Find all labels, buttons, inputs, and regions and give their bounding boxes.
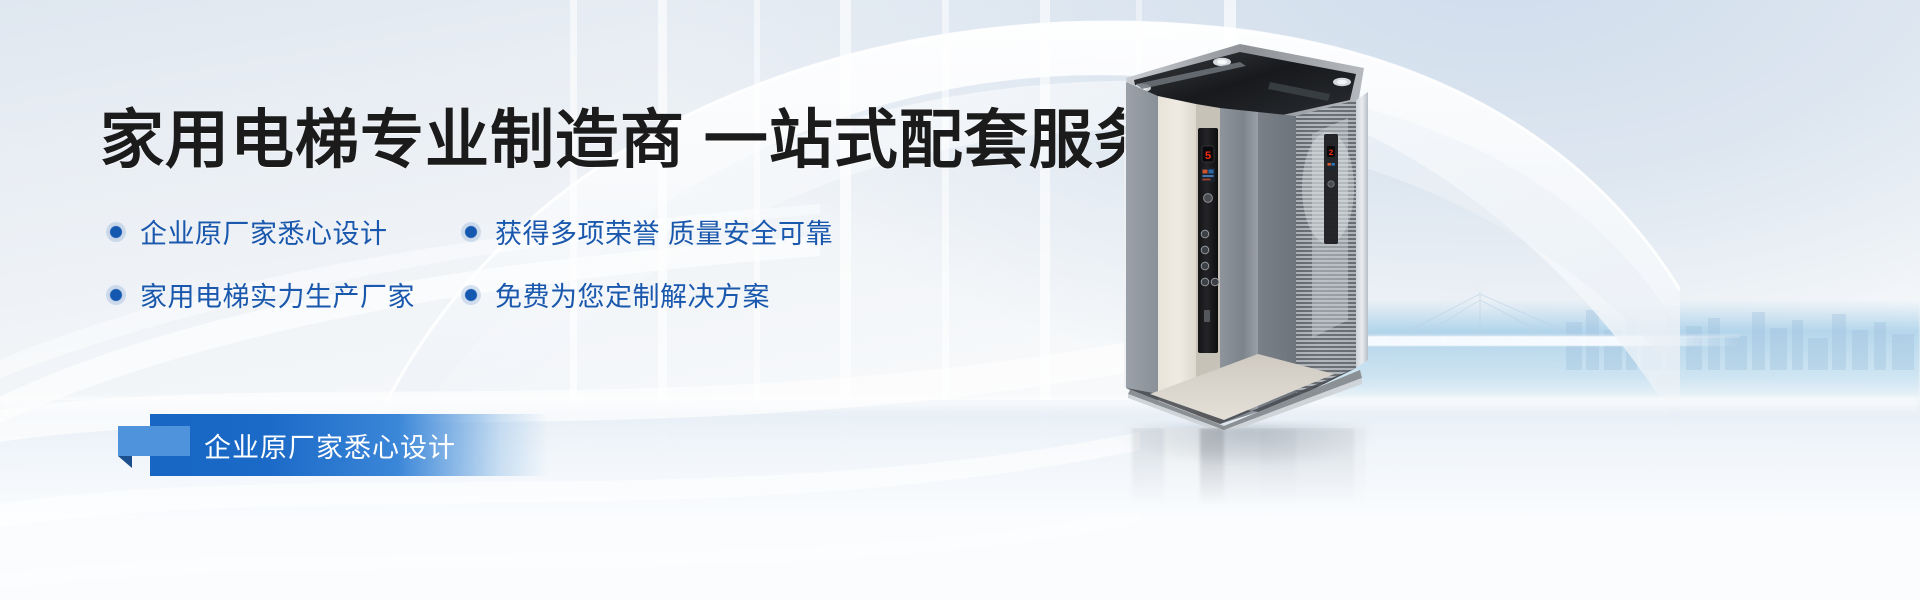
bullet-dot-icon [461, 222, 481, 242]
bullet-dot-icon [461, 285, 481, 305]
highlight-ribbon: 企业原厂家悉心设计 [118, 414, 548, 476]
panel-button [1204, 194, 1213, 203]
list-item: 企业原厂家悉心设计 [106, 212, 461, 251]
home-elevator-cabin: 5 [1120, 38, 1370, 430]
city-skyline [1560, 300, 1920, 370]
floor-sheen [0, 398, 1920, 414]
cabin-mirror-panel: 2 [1296, 100, 1356, 398]
feature-label: 家用电梯实力生产厂家 [140, 275, 415, 314]
page-title: 家用电梯专业制造商 一站式配套服务 [100, 108, 1159, 172]
list-item: 免费为您定制解决方案 [461, 275, 770, 314]
hero-banner: 家用电梯专业制造商 一站式配套服务 企业原厂家悉心设计 获得多项荣誉 质量安全可… [0, 0, 1920, 600]
ribbon-fold-icon [118, 456, 132, 468]
cabin-panel-beige [1158, 96, 1196, 418]
cabin-frame-right [1356, 92, 1368, 368]
ribbon-tab [118, 426, 190, 456]
mirrored-floor-value: 2 [1329, 149, 1334, 158]
panel-keyslot [1204, 310, 1210, 322]
feature-row: 家用电梯实力生产厂家 免费为您定制解决方案 [106, 275, 966, 314]
bullet-dot-icon [106, 222, 126, 242]
elevator-reflection [1128, 428, 1366, 506]
feature-label: 企业原厂家悉心设计 [140, 212, 388, 251]
cabin-wall-left [1126, 82, 1158, 406]
floor-indicator-value: 5 [1205, 151, 1212, 163]
list-item: 获得多项荣誉 质量安全可靠 [461, 212, 833, 251]
bullet-dot-icon [106, 285, 126, 305]
feature-row: 企业原厂家悉心设计 获得多项荣誉 质量安全可靠 [106, 212, 966, 251]
ribbon-label: 企业原厂家悉心设计 [204, 414, 456, 476]
feature-list: 企业原厂家悉心设计 获得多项荣誉 质量安全可靠 家用电梯实力生产厂家 免费为您定… [106, 212, 966, 338]
feature-label: 获得多项荣誉 质量安全可靠 [495, 212, 833, 251]
list-item: 家用电梯实力生产厂家 [106, 275, 461, 314]
feature-label: 免费为您定制解决方案 [495, 275, 770, 314]
